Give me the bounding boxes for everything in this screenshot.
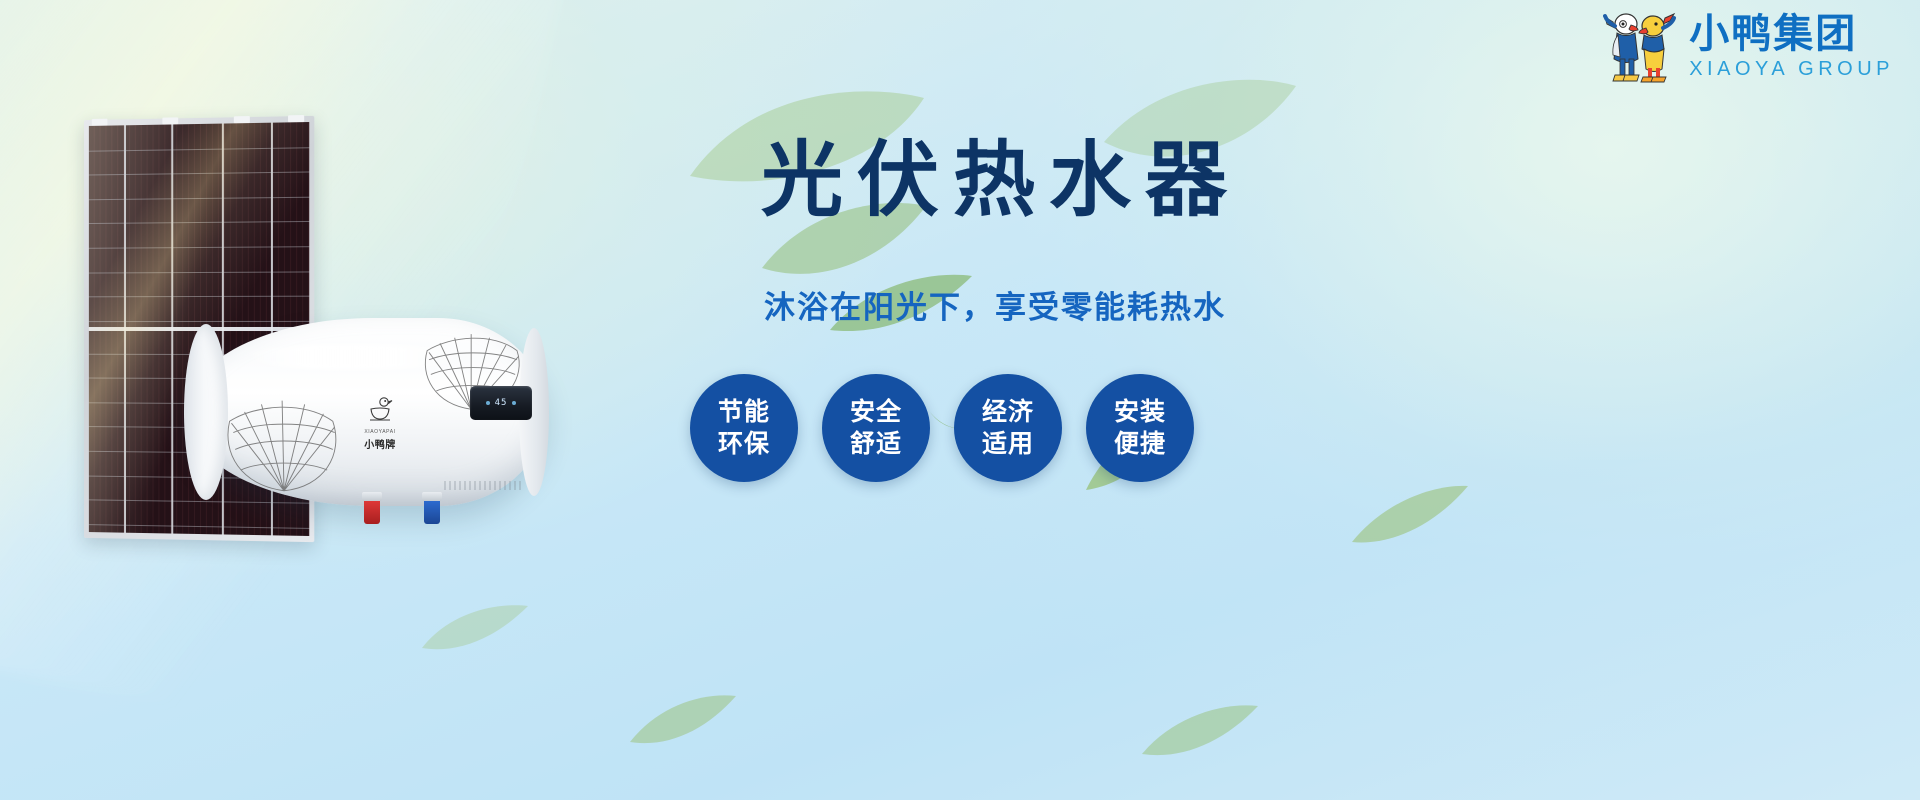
page-title: 光伏热水器: [714, 138, 1274, 225]
feature-badge-easy-install[interactable]: 安装 便捷: [1086, 374, 1194, 482]
display-indicator-dot-2: [512, 401, 516, 405]
heater-control-display[interactable]: 45: [470, 386, 532, 420]
leaf-icon-8: [628, 690, 738, 750]
logo-english-name: XIAOYA GROUP: [1689, 59, 1894, 79]
heater-hot-water-pipe: [364, 498, 380, 524]
flower-pattern-icon-1: [218, 380, 350, 502]
duck-outline-icon: [367, 396, 393, 426]
company-logo[interactable]: 小鸭集团 XIAOYA GROUP: [1603, 4, 1894, 88]
leaf-icon-7: [1350, 480, 1470, 550]
page-subtitle: 沐浴在阳光下，享受零能耗热水: [700, 282, 1290, 327]
feature-badge-energy-saving[interactable]: 节能 环保: [690, 374, 798, 482]
badge-line-2: 环保: [718, 428, 770, 460]
badge-line-1: 安全: [850, 396, 902, 428]
feature-badge-list: 节能 环保 安全 舒适 经济 适用 安装 便捷: [690, 374, 1194, 482]
leaf-icon-9: [1140, 700, 1260, 762]
badge-line-2: 舒适: [850, 428, 902, 460]
heater-brand-en: XIAOYAPAI: [352, 429, 408, 435]
badge-line-1: 经济: [982, 396, 1034, 428]
heater-brand-cn: 小鸭牌: [352, 436, 408, 451]
badge-line-2: 适用: [982, 428, 1034, 460]
display-temperature-value: 45: [495, 398, 508, 408]
promo-banner: 小鸭集团 XIAOYA GROUP: [0, 0, 1920, 800]
badge-line-1: 安装: [1114, 396, 1166, 428]
badge-line-2: 便捷: [1114, 428, 1166, 460]
feature-badge-economical[interactable]: 经济 适用: [954, 374, 1062, 482]
two-ducks-mascot-icon: [1603, 4, 1681, 88]
display-indicator-dot: [486, 401, 490, 405]
heater-rating-label: [444, 481, 522, 490]
badge-line-1: 节能: [718, 396, 770, 428]
feature-badge-safe-comfortable[interactable]: 安全 舒适: [822, 374, 930, 482]
heater-brand-mark: XIAOYAPAI 小鸭牌: [352, 396, 408, 451]
logo-chinese-name: 小鸭集团: [1689, 14, 1857, 54]
heater-cold-water-pipe: [424, 498, 440, 524]
water-heater-image: XIAOYAPAI 小鸭牌 45: [186, 318, 546, 506]
leaf-icon-10: [420, 600, 530, 656]
